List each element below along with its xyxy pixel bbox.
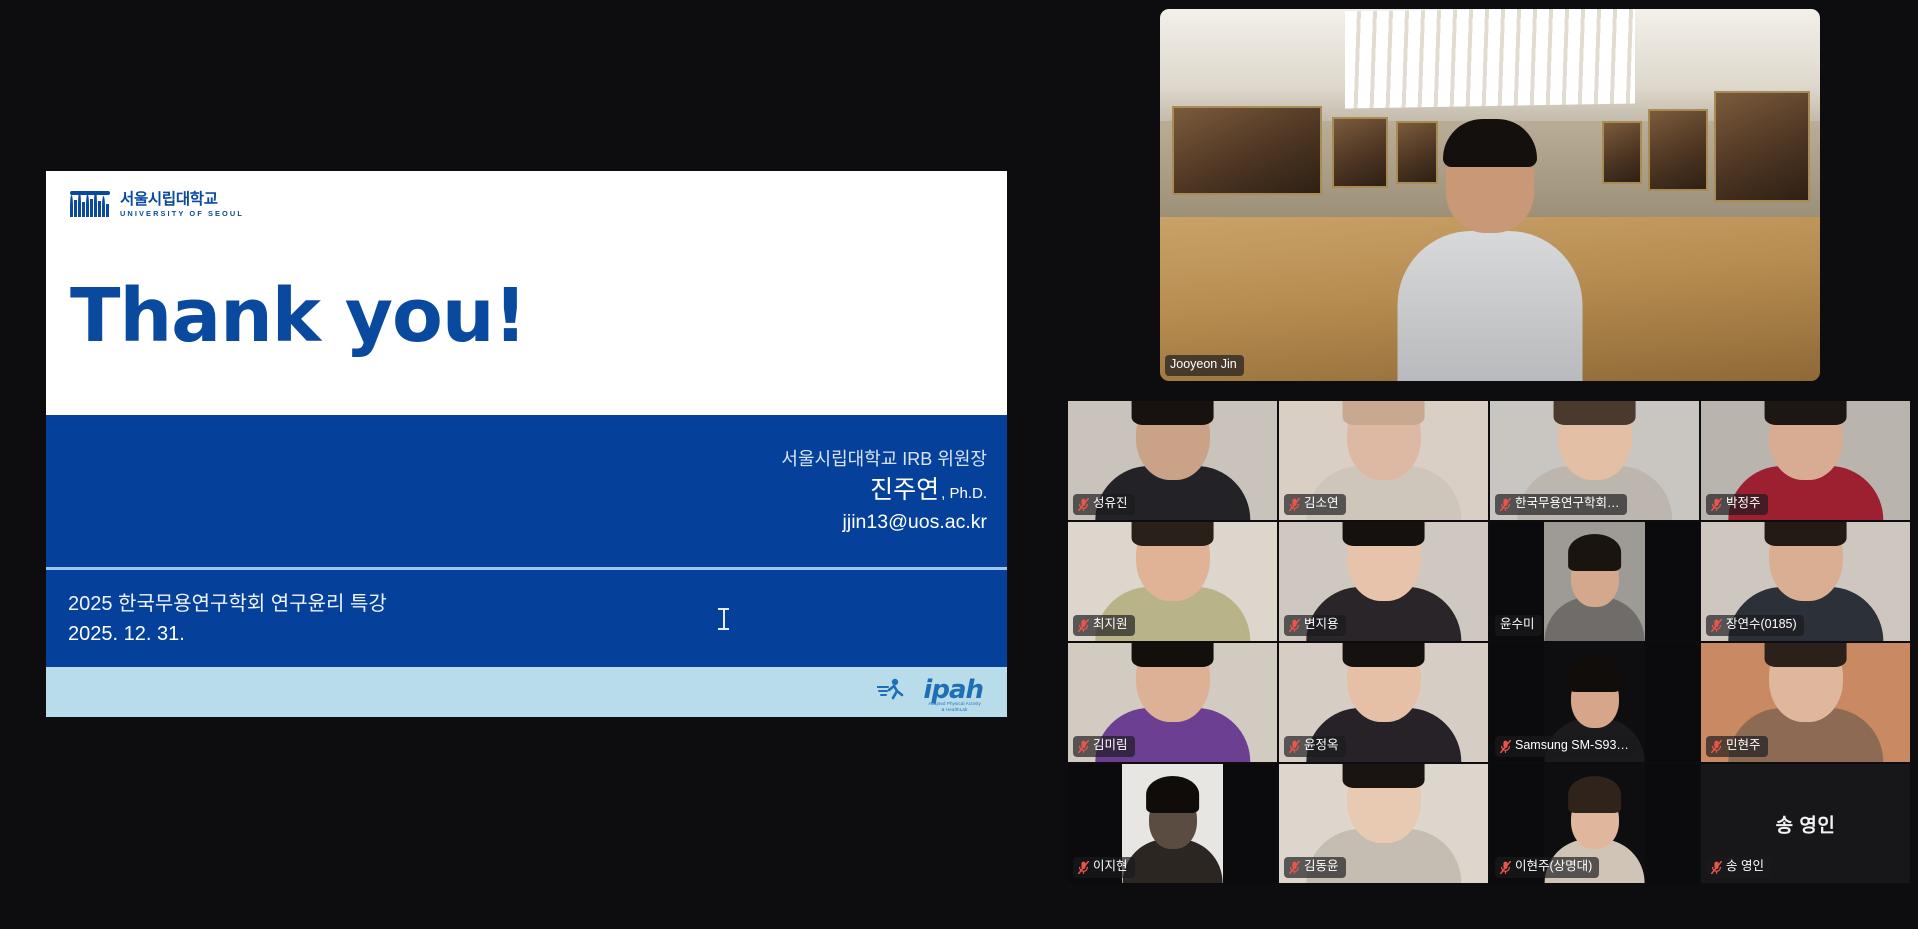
video-panel: Jooyeon Jin 성유진 김소연 <box>1060 0 1918 929</box>
participant-name-text: Samsung SM-S93… <box>1515 738 1629 754</box>
participant-name-label: 성유진 <box>1073 494 1135 515</box>
participant-name-label: 송 영인 <box>1706 857 1771 878</box>
participant-name-label: 윤수미 <box>1495 615 1542 636</box>
speaker-body <box>1398 231 1583 381</box>
participant-hair <box>1553 401 1636 425</box>
participant-tile[interactable]: 김동윤 <box>1279 764 1488 883</box>
participant-name-text: 김미림 <box>1093 738 1128 754</box>
participant-name-label: 이지현 <box>1073 857 1135 878</box>
gallery-row: 이지현 김동윤 이현주(상명대) 송 영인 <box>1068 764 1910 883</box>
mute-icon <box>1711 861 1722 874</box>
participant-tile[interactable]: 최지원 <box>1068 522 1277 641</box>
participant-tile[interactable]: 김소연 <box>1279 401 1488 520</box>
participant-name-label: 이현주(상명대) <box>1495 857 1599 878</box>
mute-icon <box>1289 498 1300 511</box>
participant-name-text: 윤수미 <box>1500 617 1535 633</box>
mute-icon <box>1078 619 1089 632</box>
slide-footer-band: ipah Adapted Physical Activity & HealthL… <box>46 667 1007 717</box>
participant-hair <box>1342 522 1425 546</box>
participant-name-label: 장연수(0185) <box>1706 615 1804 636</box>
participant-name-text: 최지원 <box>1093 617 1128 633</box>
participant-name-text: 이현주(상명대) <box>1515 859 1592 875</box>
text-cursor-icon <box>718 608 729 630</box>
participant-hair <box>1568 534 1622 571</box>
mute-icon <box>1078 498 1089 511</box>
slide-headline: Thank you! <box>70 279 526 353</box>
mute-icon <box>1711 619 1722 632</box>
participant-tile[interactable]: 윤정옥 <box>1279 643 1488 762</box>
gallery-row: 최지원 변지용 윤수미 <box>1068 522 1910 641</box>
participant-tile[interactable]: 장연수(0185) <box>1701 522 1910 641</box>
slide-lecture-band: 2025 한국무용연구학회 연구윤리 특강 2025. 12. 31. <box>46 570 1007 667</box>
participant-hair <box>1146 776 1200 813</box>
gallery-row: 김미림 윤정옥 Samsung SM-S93… <box>1068 643 1910 762</box>
mute-icon <box>1289 740 1300 753</box>
participant-hair <box>1342 764 1425 788</box>
mute-icon <box>1078 861 1089 874</box>
participant-gallery: 성유진 김소연 한국무용연구학회… <box>1068 401 1910 885</box>
participant-tile[interactable]: 김미림 <box>1068 643 1277 762</box>
university-name-korean: 서울시립대학교 <box>120 192 244 208</box>
presenter-name-korean: 진주연 <box>870 474 939 507</box>
presenter-role: 서울시립대학교 IRB 위원장 <box>781 446 987 472</box>
mute-icon <box>1289 619 1300 632</box>
mute-icon <box>1078 740 1089 753</box>
pillarbox-right <box>1645 764 1699 883</box>
participant-name-text: 이지현 <box>1093 859 1128 875</box>
lecture-title: 2025 한국무용연구학회 연구윤리 특강 <box>68 589 1007 619</box>
ipah-tagline: Adapted Physical Activity & HealthLab <box>928 701 981 712</box>
presentation-slide: 서울시립대학교 UNIVERSITY OF SEOUL Thank you! 서… <box>46 171 1007 717</box>
zoom-meeting-window: 서울시립대학교 UNIVERSITY OF SEOUL Thank you! 서… <box>0 0 1918 929</box>
participant-display-name: 송 영인 <box>1701 810 1910 837</box>
participant-tile[interactable]: 이현주(상명대) <box>1490 764 1699 883</box>
participant-tile[interactable]: 윤수미 <box>1490 522 1699 641</box>
participant-name-label: 김소연 <box>1284 494 1346 515</box>
mute-icon <box>1711 498 1722 511</box>
participant-name-label: Samsung SM-S93… <box>1495 736 1636 757</box>
mute-icon <box>1500 498 1511 511</box>
participant-name-label: 민현주 <box>1706 736 1768 757</box>
participant-name-label: 윤정옥 <box>1284 736 1346 757</box>
participant-name-text: 김동윤 <box>1304 859 1339 875</box>
presenter-email: jjin13@uos.ac.kr <box>843 508 987 536</box>
pillarbox-right <box>1645 522 1699 641</box>
mute-icon <box>1289 861 1300 874</box>
participant-tile[interactable]: 민현주 <box>1701 643 1910 762</box>
participant-hair <box>1342 401 1425 425</box>
participant-tile[interactable]: 이지현 <box>1068 764 1277 883</box>
university-emblem-icon <box>70 191 110 217</box>
participant-tile[interactable]: 송 영인 송 영인 <box>1701 764 1910 883</box>
participant-name-text: 민현주 <box>1726 738 1761 754</box>
participant-name-label: 박정주 <box>1706 494 1768 515</box>
participant-name-text: 박정주 <box>1726 496 1761 512</box>
mute-icon <box>1500 740 1511 753</box>
participant-tile[interactable]: 변지용 <box>1279 522 1488 641</box>
participant-name-text: 장연수(0185) <box>1726 617 1797 633</box>
mute-icon <box>1500 861 1511 874</box>
participant-name-text: 윤정옥 <box>1304 738 1339 754</box>
participant-hair <box>1131 522 1214 546</box>
ipah-tagline-line1: Adapted Physical Activity <box>928 701 981 706</box>
participant-name-label: 김동윤 <box>1284 857 1346 878</box>
active-speaker-tile[interactable]: Jooyeon Jin <box>1160 9 1820 381</box>
speaker-name-label: Jooyeon Jin <box>1165 355 1244 376</box>
participant-tile[interactable]: 한국무용연구학회… <box>1490 401 1699 520</box>
university-name-english: UNIVERSITY OF SEOUL <box>120 210 244 217</box>
ipah-lab-logo: ipah Adapted Physical Activity & HealthL… <box>875 673 983 711</box>
participant-name-text: 김소연 <box>1304 496 1339 512</box>
presenter-name: 진주연 , Ph.D. <box>870 474 987 507</box>
participant-tile[interactable]: 박정주 <box>1701 401 1910 520</box>
participant-hair <box>1568 776 1622 813</box>
university-logo: 서울시립대학교 UNIVERSITY OF SEOUL <box>70 191 244 217</box>
participant-hair <box>1568 655 1622 692</box>
participant-hair <box>1764 522 1847 546</box>
participant-name-text: 성유진 <box>1093 496 1128 512</box>
mute-icon <box>1711 740 1722 753</box>
pillarbox-right <box>1645 643 1699 762</box>
participant-hair <box>1131 401 1214 425</box>
participant-hair <box>1342 643 1425 667</box>
participant-name-label: 변지용 <box>1284 615 1346 636</box>
participant-name-label: 최지원 <box>1073 615 1135 636</box>
runner-icon <box>877 678 907 700</box>
participant-hair <box>1131 643 1214 667</box>
ipah-tagline-line2: & HealthLab <box>928 707 981 712</box>
presenter-degree: , Ph.D. <box>941 484 987 504</box>
participant-hair <box>1764 401 1847 425</box>
participant-name-text: 송 영인 <box>1726 859 1764 875</box>
participant-name-text: 변지용 <box>1304 617 1339 633</box>
university-wordmark: 서울시립대학교 UNIVERSITY OF SEOUL <box>120 191 244 217</box>
shared-screen-stage: 서울시립대학교 UNIVERSITY OF SEOUL Thank you! 서… <box>0 0 1060 929</box>
participant-name-label: 김미림 <box>1073 736 1135 757</box>
participant-name-text: 한국무용연구학회… <box>1515 496 1620 512</box>
slide-header-area: 서울시립대학교 UNIVERSITY OF SEOUL Thank you! <box>46 171 1007 415</box>
gallery-row: 성유진 김소연 한국무용연구학회… <box>1068 401 1910 520</box>
participant-name-label: 한국무용연구학회… <box>1495 494 1627 515</box>
speaker-name-text: Jooyeon Jin <box>1170 357 1237 373</box>
participant-tile[interactable]: Samsung SM-S93… <box>1490 643 1699 762</box>
slide-contact-band: 서울시립대학교 IRB 위원장 진주연 , Ph.D. jjin13@uos.a… <box>46 415 1007 567</box>
pillarbox-right <box>1223 764 1277 883</box>
participant-hair <box>1764 643 1847 667</box>
participant-tile[interactable]: 성유진 <box>1068 401 1277 520</box>
lecture-date: 2025. 12. 31. <box>68 619 1007 649</box>
